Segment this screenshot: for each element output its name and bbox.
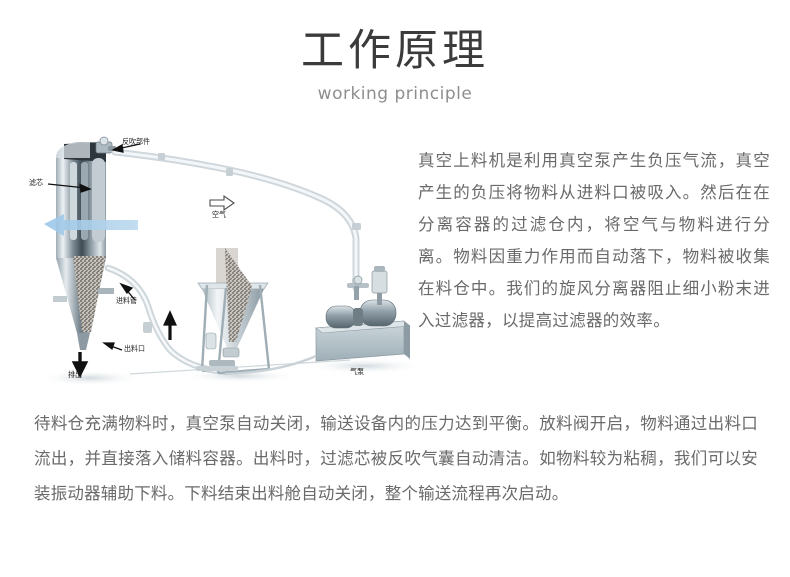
principle-description-bottom: 待料仓充满物料时，真空泵自动关闭，输送设备内的压力达到平衡。放料阀开启，物料通过… [34, 406, 758, 511]
page-subtitle: working principle [0, 84, 790, 104]
label-back-blow: 反吹部件 [122, 137, 150, 148]
page-root: 工作原理 working principle [0, 0, 790, 577]
label-air-pump: 气泵 [350, 367, 364, 378]
diagram-leader-lines [20, 128, 420, 393]
leader-filter-core [48, 184, 90, 192]
working-principle-diagram: 反吹部件 滤芯 空气 进料管 出料口 排出 气泵 [20, 128, 420, 393]
label-feed-pipe: 进料管 [116, 296, 137, 307]
page-header: 工作原理 working principle [0, 26, 790, 104]
label-air: 空气 [212, 210, 226, 221]
principle-description-right: 真空上料机是利用真空泵产生负压气流，真空产生的负压将物料从进料口被吸入。然后在在… [418, 145, 770, 337]
label-discharge: 排出 [68, 370, 82, 381]
label-outlet: 出料口 [124, 344, 145, 355]
page-title: 工作原理 [0, 26, 790, 76]
label-filter-core: 滤芯 [29, 178, 43, 189]
leader-outlet [104, 343, 122, 350]
